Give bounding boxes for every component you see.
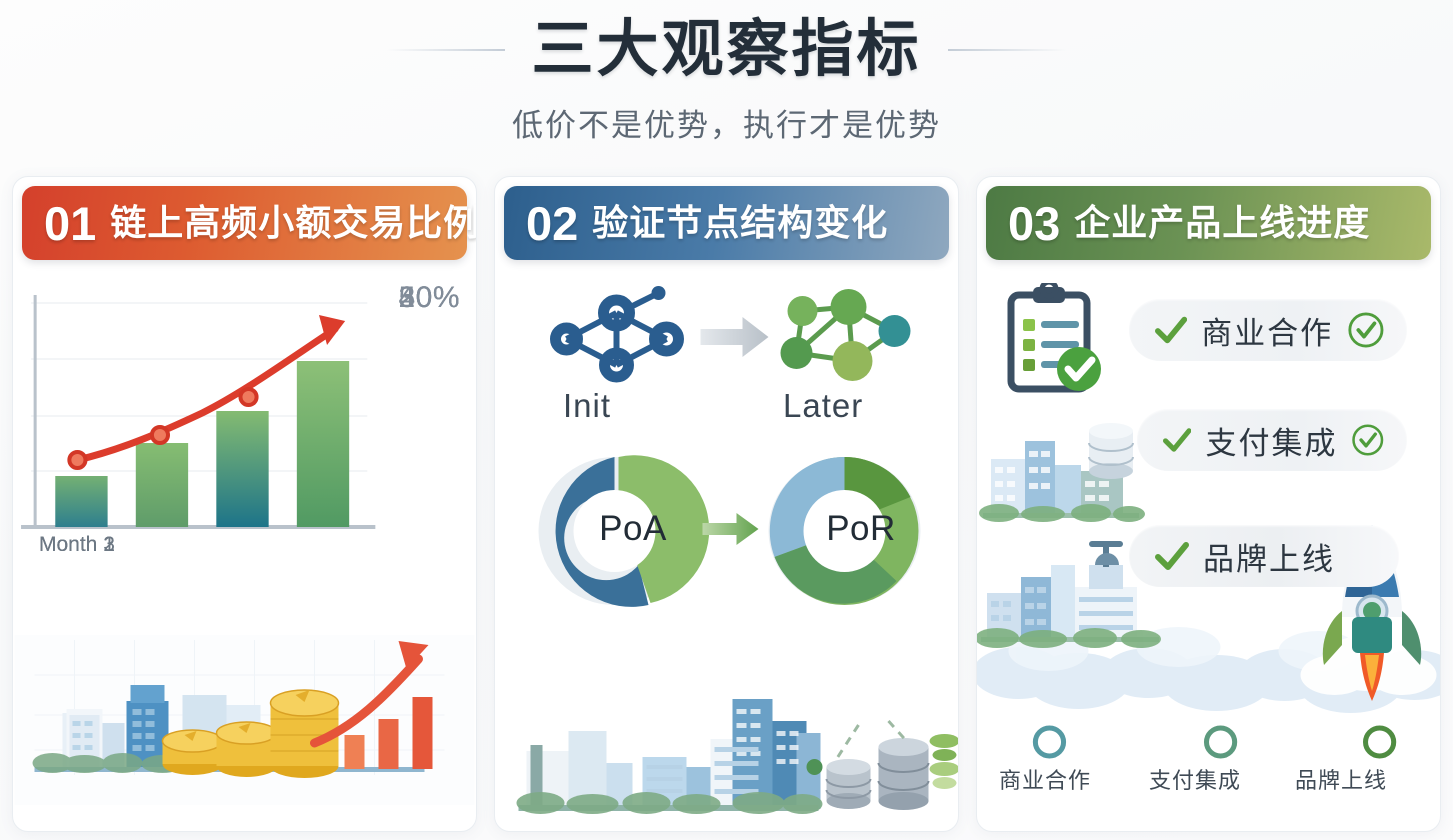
- infographic-page: 三大观察指标 低价不是优势，执行才是优势 01 链上高频小额交易比例: [0, 0, 1453, 840]
- database-large: [879, 738, 929, 810]
- card-03[interactable]: 03 企业产品上线进度: [976, 176, 1441, 832]
- page-header: 三大观察指标 低价不是优势，执行才是优势: [0, 0, 1453, 168]
- network-after-label: Later: [783, 387, 863, 425]
- chart-y-tick-labels: 50% 40% 30% 20%: [368, 281, 460, 531]
- check-circle-icon: [1351, 420, 1385, 460]
- timeline-label-0: 商业合作: [999, 763, 1091, 795]
- title-rule-left: [387, 49, 505, 51]
- x-tick-month3: Month 3: [39, 533, 115, 557]
- timeline-label-1: 支付集成: [1149, 763, 1241, 795]
- donut-por-label: PoR: [801, 509, 921, 549]
- card-01-body: 50% 40% 30% 20% Month 1 Month 2 Month 3: [13, 269, 476, 831]
- network-before-label: Init: [563, 387, 611, 425]
- check-mark-icon: [1163, 425, 1191, 455]
- y-tick-20: 20%: [398, 281, 460, 315]
- network-before-leaf-node: [652, 286, 666, 300]
- city-database-illustration: [495, 681, 958, 821]
- city-skyline-icon: [517, 699, 823, 814]
- timeline-track: [977, 715, 1440, 769]
- growth-illustration: [13, 635, 476, 805]
- cards-container: 01 链上高频小额交易比例: [12, 176, 1441, 832]
- chart-bar: [297, 361, 349, 527]
- card-03-number: 03: [1008, 200, 1060, 247]
- card-02-body: Init Later: [495, 269, 958, 831]
- chart-trend-line: [77, 329, 335, 460]
- check-mark-icon: [1155, 315, 1187, 345]
- card-01-header: 01 链上高频小额交易比例: [22, 186, 467, 260]
- card-03-title: 企业产品上线进度: [1074, 205, 1370, 241]
- card-01[interactable]: 01 链上高频小额交易比例: [12, 176, 477, 832]
- checklist-item-1[interactable]: 支付集成: [1137, 409, 1407, 471]
- checklist-item-2-label: 品牌上线: [1203, 534, 1335, 579]
- title-row: 三大观察指标: [0, 8, 1453, 92]
- coin-stack-medium: [217, 722, 277, 777]
- card-01-title: 链上高频小额交易比例: [110, 205, 477, 241]
- donut-poa-label: PoA: [573, 509, 693, 549]
- card-01-number: 01: [44, 200, 96, 247]
- chart-bar: [216, 411, 268, 527]
- network-transition-diagram: [495, 273, 958, 393]
- progress-timeline: 商业合作 支付集成 品牌上线: [977, 715, 1440, 819]
- database-icon: [827, 734, 959, 810]
- database-small: [827, 759, 871, 809]
- check-mark-icon: [1155, 541, 1189, 571]
- chart-x-tick-labels: Month 1 Month 2 Month 3: [39, 533, 379, 567]
- card-02-title: 验证节点结构变化: [592, 205, 888, 241]
- card-02[interactable]: 02 验证节点结构变化: [494, 176, 959, 832]
- checklist-item-0-label: 商业合作: [1201, 308, 1333, 353]
- timeline-label-2: 品牌上线: [1295, 763, 1387, 795]
- green-stack-icon: [930, 734, 959, 789]
- check-circle-icon: [1347, 310, 1385, 350]
- card-02-number: 02: [526, 200, 578, 247]
- checklist-item-2[interactable]: 品牌上线: [1129, 525, 1399, 587]
- page-title: 三大观察指标: [531, 19, 921, 81]
- checklist-item-0[interactable]: 商业合作: [1129, 299, 1407, 361]
- page-subtitle: 低价不是优势，执行才是优势: [0, 100, 1453, 145]
- timeline-labels: 商业合作 支付集成 品牌上线: [977, 763, 1440, 803]
- checklist: 商业合作 支付集成: [977, 281, 1440, 711]
- card-02-header: 02 验证节点结构变化: [504, 186, 949, 260]
- card-03-body: 商业合作 支付集成: [977, 269, 1440, 831]
- donut-transition-arrow-icon: [703, 513, 759, 545]
- card-03-header: 03 企业产品上线进度: [986, 186, 1431, 260]
- title-rule-right: [948, 49, 1066, 51]
- coin-stack-small: [163, 730, 223, 775]
- connector-node: [807, 759, 823, 775]
- chart-bar: [55, 476, 107, 527]
- right-arrow-icon: [701, 317, 769, 357]
- checklist-item-1-label: 支付集成: [1205, 418, 1337, 463]
- transaction-ratio-chart: 50% 40% 30% 20% Month 1 Month 2 Month 3: [13, 271, 476, 571]
- chart-bar: [136, 443, 188, 527]
